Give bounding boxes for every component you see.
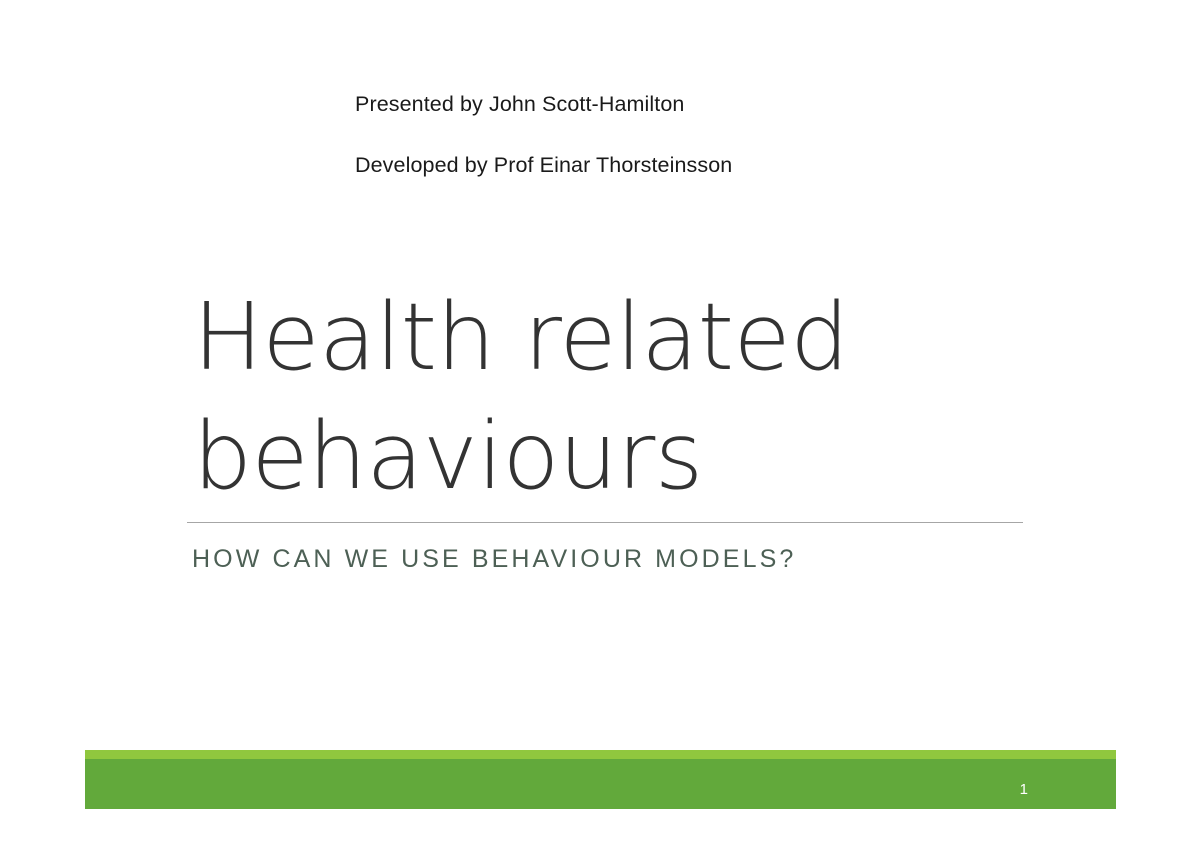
developer-credit: Developed by Prof Einar Thorsteinsson	[355, 151, 1055, 179]
page-title-line-2: behaviours	[193, 397, 1053, 516]
presenter-credit: Presented by John Scott-Hamilton	[355, 90, 1055, 118]
page-title: Health related behaviours	[193, 278, 1053, 516]
page-title-line-1: Health related	[193, 278, 1053, 397]
title-divider	[187, 522, 1023, 523]
credits-block: Presented by John Scott-Hamilton Develop…	[355, 90, 1055, 180]
page-subtitle: HOW CAN WE USE BEHAVIOUR MODELS?	[192, 543, 796, 576]
footer-accent-stripe	[85, 750, 1116, 759]
footer-bar: 1	[85, 750, 1116, 809]
slide-number: 1	[1020, 782, 1028, 797]
footer-body: 1	[85, 759, 1116, 809]
presentation-slide: Presented by John Scott-Hamilton Develop…	[0, 0, 1200, 849]
